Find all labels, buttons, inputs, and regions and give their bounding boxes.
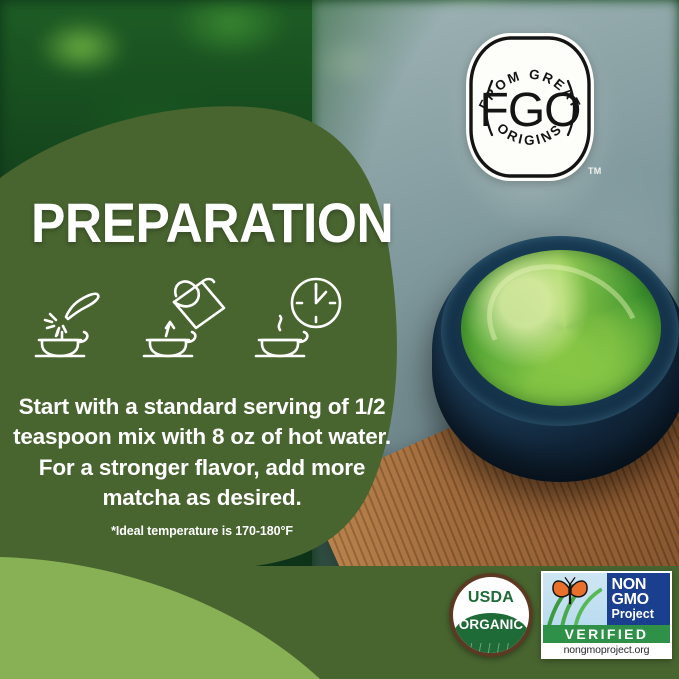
instruction-line-1: Start with a standard serving of 1/2 [8,392,396,422]
instruction-line-4: matcha as desired. [8,483,396,513]
preparation-steps [26,272,346,358]
usda-organic-seal: USDA ORGANIC [449,573,533,657]
usda-field-lines [453,643,529,653]
organic-label: ORGANIC [453,617,529,632]
spoon-scoop-into-cup-icon [26,272,116,358]
gmo-text: GMO [612,592,649,608]
verified-banner: VERIFIED [543,625,670,643]
butterfly-grass-illustration [543,573,607,625]
steaming-cup-with-clock-icon [254,272,344,358]
non-gmo-wordmark: NON GMO Project [607,573,671,625]
pouring-packet-into-cup-icon [140,272,230,358]
page-title: PREPARATION [31,195,393,251]
non-gmo-project-badge: NON GMO Project VERIFIED nongmoproject.o… [541,571,672,659]
usda-label: USDA [453,589,529,607]
non-gmo-url: nongmoproject.org [543,643,670,657]
non-text: NON [612,577,647,593]
svg-text:FGO: FGO [480,84,581,137]
instruction-line-3: For a stronger flavor, add more [8,453,396,483]
trademark-symbol: TM [588,166,602,176]
instruction-line-2: teaspoon mix with 8 oz of hot water. [8,422,396,452]
project-text: Project [612,608,654,621]
fgo-logo: FROM GREAT ORIGINS FGO [466,33,594,181]
instructions-text: Start with a standard serving of 1/2 tea… [8,392,396,514]
product-infographic: PREPARATION [0,0,679,679]
temperature-footnote: *Ideal temperature is 170-180°F [8,524,396,538]
